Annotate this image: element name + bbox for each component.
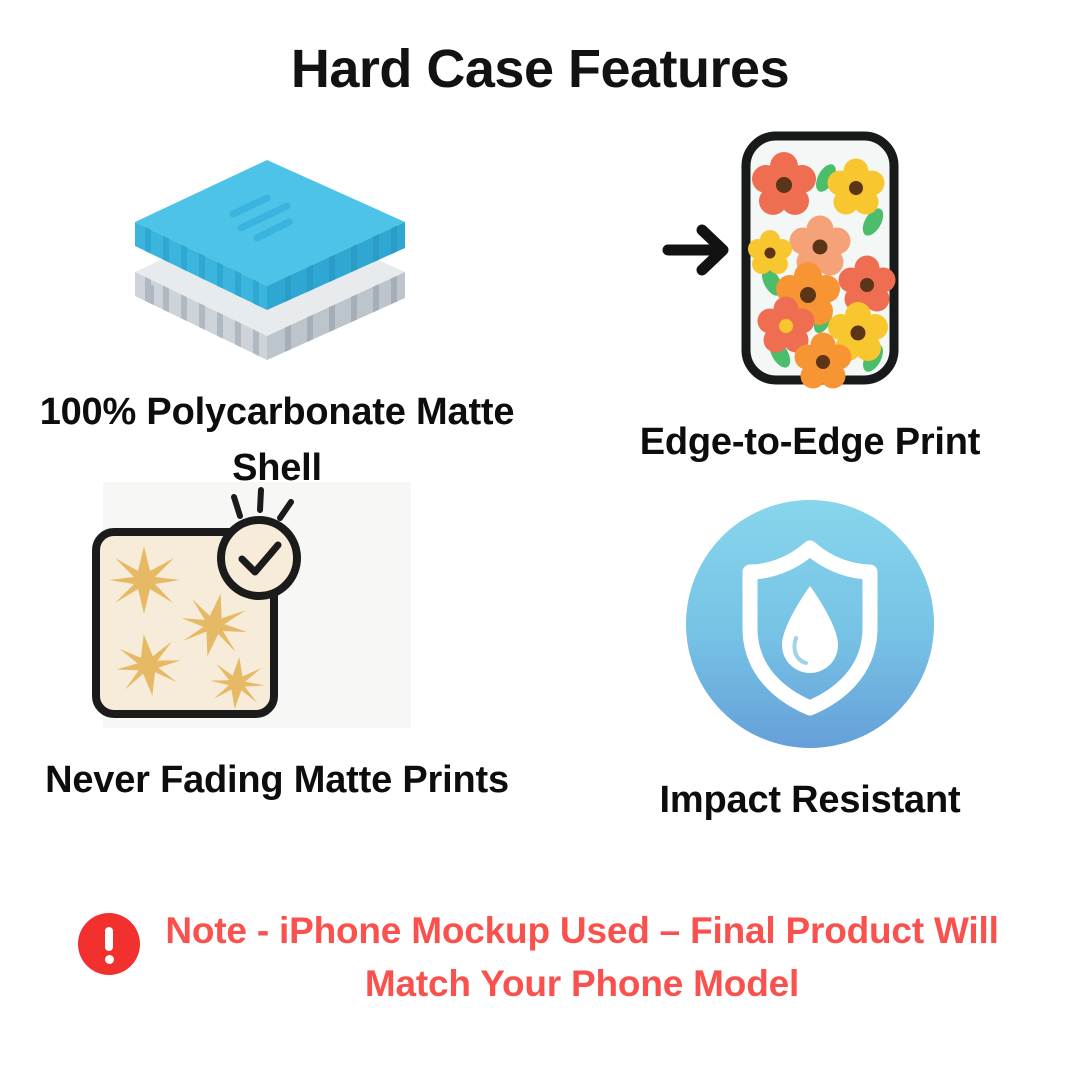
exclamation-dot [105,955,114,964]
feature-label-edge-print: Edge-to-Edge Print [560,414,1060,470]
feature-label-never-fade: Never Fading Matte Prints [22,752,532,808]
sparkle-panel-check-icon [68,480,348,730]
features-infographic: Hard Case Features [0,0,1080,1080]
exclamation-stem [105,927,113,951]
feature-art-polycarbonate [22,150,532,368]
shine-lines [234,490,291,518]
stacked-layers-icon [117,150,437,368]
feature-art-impact [560,500,1060,748]
floral-phone-case-icon [660,130,960,392]
feature-edge-to-edge-print: Edge-to-Edge Print [560,130,1060,470]
feature-polycarbonate: 100% Polycarbonate Matte Shell [22,150,532,496]
feature-label-impact: Impact Resistant [560,772,1060,828]
exclamation-badge-icon [78,913,140,975]
page-title: Hard Case Features [0,38,1080,100]
disclaimer-note: Note - iPhone Mockup Used – Final Produc… [0,905,1080,1010]
feature-art-never-fade [22,480,532,730]
shield-droplet-icon [686,500,934,748]
disclaimer-note-text: Note - iPhone Mockup Used – Final Produc… [162,905,1002,1010]
feature-never-fading-prints: Never Fading Matte Prints [22,480,532,808]
arrow-right-icon [668,230,723,270]
check-circle-icon [221,490,297,596]
feature-impact-resistant: Impact Resistant [560,500,1060,828]
feature-art-edge-print [560,130,1060,392]
